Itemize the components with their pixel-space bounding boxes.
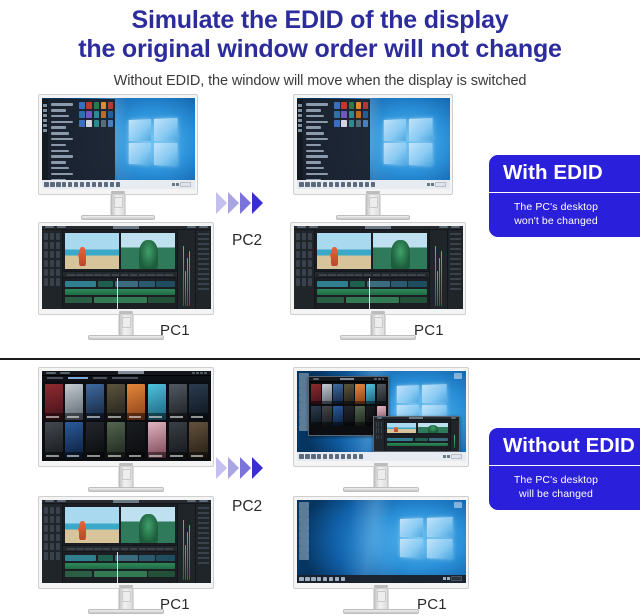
badge-desc-line-2: won't be changed	[497, 214, 615, 228]
project-title	[113, 226, 139, 229]
media-library-app	[42, 371, 211, 462]
taskbar-start-icon[interactable]	[299, 454, 303, 458]
taskbar-search-icon[interactable]	[305, 577, 309, 581]
transport-scrubber[interactable]	[63, 271, 176, 278]
monitor-brand-logo	[119, 463, 133, 466]
poster-item[interactable]	[322, 406, 331, 426]
windows-desktop-wallpaper	[297, 98, 450, 190]
windows-desktop-wallpaper	[42, 98, 195, 190]
poster-item[interactable]	[169, 384, 187, 420]
taskbar-app-icon[interactable]	[110, 182, 114, 186]
monitor-screen	[293, 94, 453, 195]
monitor-stand-base	[88, 335, 164, 340]
screen-content-windows-desktop	[297, 98, 450, 190]
monitor-label-pc1: PC1	[160, 322, 190, 339]
tab-home[interactable]	[47, 377, 63, 379]
badge-description: The PC's desktop won't be changed	[489, 193, 640, 237]
taskbar-app-icon[interactable]	[341, 577, 345, 581]
taskbar-app-icon[interactable]	[347, 182, 351, 186]
timeline-sub-track[interactable]	[317, 297, 426, 302]
timeline-audio-track[interactable]	[65, 289, 174, 295]
inspector-panel[interactable]	[447, 230, 462, 309]
video-editor-app	[374, 417, 460, 451]
taskbar-app-icon[interactable]	[329, 577, 333, 581]
page-header: Simulate the EDID of the display the ori…	[0, 0, 640, 91]
monitor-stand-base	[336, 215, 410, 220]
project-title	[113, 500, 139, 503]
poster-item[interactable]	[127, 384, 145, 420]
taskbar-app-icon[interactable]	[80, 182, 84, 186]
badge-with-edid: With EDID The PC's desktop won't be chan…	[489, 155, 640, 237]
taskbar-search-icon[interactable]	[305, 454, 309, 458]
timeline-audio-track[interactable]	[387, 443, 448, 446]
taskbar-app-icon[interactable]	[365, 182, 369, 186]
taskbar-clock	[451, 576, 462, 581]
taskbar-start-icon[interactable]	[299, 577, 303, 581]
preview-viewers	[63, 230, 176, 271]
taskbar-app-icon[interactable]	[317, 182, 321, 186]
monitor-brand-logo	[119, 311, 133, 314]
chevron-right-icon	[252, 192, 263, 214]
monitor-stand-base	[88, 609, 164, 614]
monitor-screen	[38, 222, 214, 315]
monitor-stand-base	[343, 609, 419, 614]
poster-item[interactable]	[344, 406, 353, 426]
monitor-stand-base	[81, 215, 155, 220]
taskbar-search-icon[interactable]	[50, 182, 54, 186]
monitor-bottom-right-with-edid: PC1	[290, 222, 466, 315]
timeline-playhead[interactable]	[369, 278, 370, 309]
poster-item[interactable]	[311, 384, 320, 404]
page-title-line-1: Simulate the EDID of the display	[0, 6, 640, 35]
taskbar-search-icon[interactable]	[305, 182, 309, 186]
chevron-right-icon	[228, 457, 239, 479]
monitor-stand-neck	[371, 315, 386, 337]
monitor-top-left-without-edid	[38, 367, 214, 467]
taskbar-app-icon[interactable]	[68, 182, 72, 186]
timeline-audio-track[interactable]	[65, 563, 174, 569]
video-editor-app	[42, 500, 211, 584]
page-title-line-2: the original window order will not chang…	[0, 35, 640, 64]
program-viewer[interactable]	[418, 423, 448, 433]
monitor-stand-neck	[374, 467, 389, 489]
start-menu-panel[interactable]	[42, 99, 115, 180]
poster-item[interactable]	[148, 422, 166, 458]
taskbar-app-icon[interactable]	[311, 182, 315, 186]
taskbar-app-icon[interactable]	[317, 454, 321, 458]
taskbar-app-icon[interactable]	[104, 182, 108, 186]
badge-desc-line-1: The PC's desktop	[497, 200, 615, 214]
taskbar-app-icon[interactable]	[323, 577, 327, 581]
taskbar-system-tray[interactable]	[443, 454, 464, 459]
start-menu-rail[interactable]	[297, 99, 304, 180]
windows-desktop-wallpaper	[297, 371, 466, 462]
video-editor-app	[42, 226, 211, 310]
timeline-playhead[interactable]	[117, 552, 118, 583]
media-bin-panel[interactable]	[42, 504, 64, 583]
transport-scrubber[interactable]	[63, 545, 176, 552]
arrow-label-pc2: PC2	[232, 232, 262, 250]
monitor-screen	[38, 94, 198, 195]
poster-item[interactable]	[107, 422, 125, 458]
transport-scrubber[interactable]	[315, 271, 428, 278]
screen-content-windows-desktop	[42, 98, 195, 190]
video-editor-center	[315, 230, 428, 309]
media-bin-panel[interactable]	[42, 230, 64, 309]
screen-content-video-editor	[294, 226, 463, 310]
monitor-brand-logo	[371, 311, 385, 314]
poster-item[interactable]	[45, 422, 63, 458]
inspector-panel[interactable]	[195, 230, 210, 309]
desktop-corner-icon[interactable]	[454, 373, 462, 379]
monitor-stand-neck	[111, 195, 126, 217]
taskbar-app-icon[interactable]	[323, 454, 327, 458]
taskbar-start-icon[interactable]	[44, 182, 48, 186]
windows-desktop-wallpaper	[297, 500, 466, 584]
video-editor-body	[294, 230, 463, 309]
program-viewer[interactable]	[373, 233, 427, 269]
taskbar-app-icon[interactable]	[335, 454, 339, 458]
monitor-top-right-without-edid	[293, 367, 469, 467]
poster-item[interactable]	[189, 422, 207, 458]
poster-item[interactable]	[169, 422, 187, 458]
chevron-right-icon	[240, 457, 251, 479]
monitor-brand-logo	[366, 191, 380, 194]
poster-item[interactable]	[355, 406, 364, 426]
taskbar-app-icon[interactable]	[335, 182, 339, 186]
section-with-edid: PC1 PC2	[0, 92, 640, 358]
poster-item[interactable]	[344, 384, 353, 404]
taskbar-system-tray[interactable]	[443, 576, 464, 581]
taskbar-app-icon[interactable]	[335, 577, 339, 581]
windows-logo-icon	[384, 118, 433, 166]
badge-title: With EDID	[489, 155, 640, 193]
poster-item[interactable]	[65, 384, 83, 420]
inspector-panel[interactable]	[195, 504, 210, 583]
monitor-stand-neck	[119, 315, 134, 337]
poster-item[interactable]	[377, 384, 386, 404]
poster-grid	[42, 381, 211, 462]
taskbar-app-icon[interactable]	[74, 182, 78, 186]
badge-description: The PC's desktop will be changed	[489, 466, 640, 510]
badge-title: Without EDID	[489, 428, 640, 466]
monitor-bottom-left-with-edid: PC1	[38, 222, 214, 315]
audio-level-meters	[429, 230, 448, 309]
audio-level-meters	[450, 420, 459, 451]
timeline-panel[interactable]	[385, 435, 450, 451]
screen-content-media-library	[42, 371, 211, 462]
taskbar-app-icon[interactable]	[347, 454, 351, 458]
video-editor-body	[42, 230, 211, 309]
window-video-editor[interactable]	[373, 416, 461, 452]
taskbar-clock	[451, 454, 462, 459]
monitor-stand-base	[340, 335, 416, 340]
timeline-audio-track[interactable]	[317, 289, 426, 295]
monitor-stand-base	[88, 487, 164, 492]
monitor-top-left-with-edid	[38, 94, 198, 195]
desktop-icons[interactable]	[299, 502, 309, 560]
timeline-panel[interactable]	[315, 278, 428, 309]
badge-desc-line-1: The PC's desktop	[497, 473, 615, 487]
taskbar-app-icon[interactable]	[56, 182, 60, 186]
windows-taskbar[interactable]	[42, 180, 195, 189]
monitor-screen	[290, 222, 466, 315]
tab-shows[interactable]	[93, 377, 107, 379]
desktop-corner-icon[interactable]	[454, 502, 462, 508]
timeline-video-track[interactable]	[65, 555, 174, 560]
timeline-playhead[interactable]	[117, 278, 118, 309]
taskbar-system-tray[interactable]	[427, 182, 448, 187]
section-divider	[0, 358, 640, 360]
taskbar-app-icon[interactable]	[359, 454, 363, 458]
monitor-bottom-left-without-edid: PC1	[38, 496, 214, 589]
poster-item[interactable]	[45, 384, 63, 420]
media-bin-panel[interactable]	[374, 420, 385, 451]
preview-viewers	[63, 504, 176, 545]
media-app-controls[interactable]	[192, 372, 206, 374]
monitor-brand-logo	[374, 463, 388, 466]
start-menu-rail[interactable]	[42, 99, 49, 180]
monitor-bottom-right-without-edid: PC1	[293, 496, 469, 589]
taskbar-app-icon[interactable]	[116, 182, 120, 186]
poster-item[interactable]	[86, 422, 104, 458]
timeline-sub-track[interactable]	[65, 571, 174, 576]
start-menu-tiles[interactable]	[77, 99, 114, 180]
taskbar-system-tray[interactable]	[172, 182, 193, 187]
windows-logo-icon	[129, 118, 178, 166]
start-menu-tiles[interactable]	[332, 99, 369, 180]
transition-arrows-with-edid	[216, 192, 263, 214]
timeline-sub-track[interactable]	[65, 297, 174, 302]
video-editor-center	[385, 420, 450, 451]
taskbar-app-icon[interactable]	[317, 577, 321, 581]
badge-without-edid: Without EDID The PC's desktop will be ch…	[489, 428, 640, 510]
preview-viewers	[385, 420, 450, 435]
screen-content-video-editor	[42, 226, 211, 310]
monitor-brand-logo	[111, 191, 125, 194]
monitor-label-pc1: PC1	[414, 322, 444, 339]
screen-content-video-editor	[42, 500, 211, 584]
poster-item[interactable]	[311, 406, 320, 426]
video-editor-body	[374, 420, 460, 451]
video-editor-body	[42, 504, 211, 583]
source-viewer[interactable]	[317, 233, 371, 269]
taskbar-app-icon[interactable]	[371, 182, 375, 186]
poster-item[interactable]	[107, 384, 125, 420]
screen-content-windowed-composite	[297, 371, 466, 462]
taskbar-app-icon[interactable]	[98, 182, 102, 186]
taskbar-app-icon[interactable]	[341, 182, 345, 186]
taskbar-app-icon[interactable]	[311, 454, 315, 458]
badge-desc-line-2: will be changed	[497, 487, 615, 501]
start-menu-panel[interactable]	[297, 99, 370, 180]
project-title	[365, 226, 391, 229]
monitor-stand-neck	[119, 589, 134, 611]
preview-viewers	[315, 230, 428, 271]
poster-item[interactable]	[333, 384, 342, 404]
audio-level-meters	[177, 230, 196, 309]
monitor-screen	[293, 367, 469, 467]
chevron-right-icon	[240, 192, 251, 214]
start-menu-app-list[interactable]	[303, 99, 332, 180]
poster-item[interactable]	[127, 422, 145, 458]
taskbar-app-icon[interactable]	[62, 182, 66, 186]
media-app-title	[118, 371, 144, 374]
monitor-brand-logo	[374, 585, 388, 588]
chevron-right-icon	[228, 192, 239, 214]
taskbar-app-icon[interactable]	[329, 454, 333, 458]
taskbar-app-icon[interactable]	[359, 182, 363, 186]
poster-item[interactable]	[322, 384, 331, 404]
timeline-video-track[interactable]	[317, 281, 426, 286]
source-viewer[interactable]	[65, 507, 119, 543]
monitor-screen	[38, 367, 214, 467]
screen-content-windows-desktop-clean	[297, 500, 466, 584]
timeline-video-track[interactable]	[387, 438, 448, 441]
monitor-label-pc1: PC1	[417, 596, 447, 613]
page-subtitle: Without EDID, the window will move when …	[0, 71, 640, 91]
section-without-edid: PC1 PC2	[0, 362, 640, 616]
audio-level-meters	[177, 504, 196, 583]
monitor-screen	[38, 496, 214, 589]
program-viewer[interactable]	[121, 233, 175, 269]
monitor-screen	[293, 496, 469, 589]
tab-movies[interactable]	[68, 377, 88, 379]
poster-item[interactable]	[333, 406, 342, 426]
poster-item[interactable]	[189, 384, 207, 420]
tab-collections[interactable]	[112, 377, 138, 379]
poster-item[interactable]	[366, 384, 375, 404]
program-viewer[interactable]	[121, 507, 175, 543]
windows-taskbar[interactable]	[297, 180, 450, 189]
monitor-stand-neck	[374, 589, 389, 611]
video-editor-app	[294, 226, 463, 310]
arrow-label-pc2: PC2	[232, 498, 262, 516]
taskbar-app-icon[interactable]	[323, 182, 327, 186]
monitor-stand-neck	[119, 467, 134, 489]
poster-item[interactable]	[148, 384, 166, 420]
video-editor-center	[63, 504, 176, 583]
source-viewer[interactable]	[65, 233, 119, 269]
chevron-right-icon	[216, 192, 227, 214]
monitor-brand-logo	[119, 585, 133, 588]
taskbar-app-icon[interactable]	[86, 182, 90, 186]
poster-item[interactable]	[65, 422, 83, 458]
taskbar-app-icon[interactable]	[353, 182, 357, 186]
poster-item[interactable]	[86, 384, 104, 420]
monitor-label-pc1: PC1	[160, 596, 190, 613]
monitor-top-right-with-edid	[293, 94, 453, 195]
media-bin-panel[interactable]	[294, 230, 316, 309]
poster-item[interactable]	[355, 384, 364, 404]
taskbar-app-icon[interactable]	[92, 182, 96, 186]
chevron-right-icon	[216, 457, 227, 479]
taskbar-start-icon[interactable]	[299, 182, 303, 186]
windows-logo-icon	[400, 517, 453, 559]
taskbar-app-icon[interactable]	[311, 577, 315, 581]
windows-taskbar[interactable]	[297, 575, 466, 583]
source-viewer[interactable]	[387, 423, 417, 433]
timeline-panel[interactable]	[63, 278, 176, 309]
timeline-video-track[interactable]	[65, 281, 174, 286]
video-editor-center	[63, 230, 176, 309]
taskbar-clock	[180, 182, 191, 187]
taskbar-clock	[435, 182, 446, 187]
windows-taskbar[interactable]	[297, 452, 466, 461]
monitor-stand-base	[343, 487, 419, 492]
taskbar-app-icon[interactable]	[329, 182, 333, 186]
start-menu-app-list[interactable]	[48, 99, 77, 180]
taskbar-app-icon[interactable]	[353, 454, 357, 458]
timeline-panel[interactable]	[63, 552, 176, 583]
taskbar-app-icon[interactable]	[341, 454, 345, 458]
chevron-right-icon	[252, 457, 263, 479]
monitor-stand-neck	[366, 195, 381, 217]
transition-arrows-without-edid	[216, 457, 263, 479]
